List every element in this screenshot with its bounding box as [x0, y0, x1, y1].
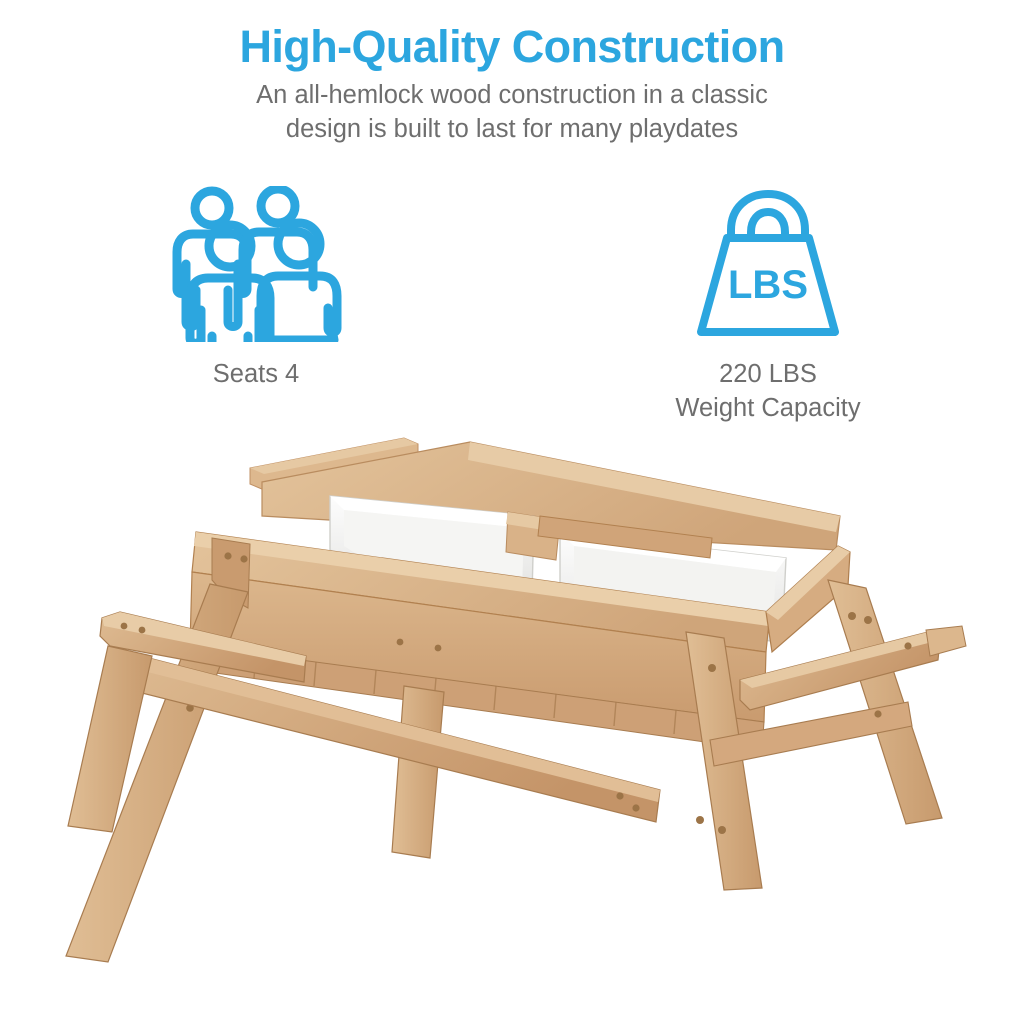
feature-weight-capacity: LBS 220 LBS Weight Capacity	[512, 186, 1024, 426]
weight-bag-icon-wrap: LBS	[512, 186, 1024, 342]
screw	[718, 826, 726, 834]
screw	[632, 804, 639, 811]
screw	[874, 710, 881, 717]
screw	[696, 816, 704, 824]
subtitle-line-1: An all-hemlock wood construction in a cl…	[147, 79, 877, 113]
screw	[397, 639, 404, 646]
seats-caption: Seats 4	[0, 358, 512, 392]
weight-bag-icon-label: LBS	[728, 263, 808, 307]
picnic-table-illustration	[0, 420, 1024, 1024]
screw	[848, 612, 856, 620]
feature-row: Seats 4 LBS 220 LBS	[0, 186, 1024, 426]
infographic-page: High-Quality Construction An all-hemlock…	[0, 0, 1024, 1024]
table-group	[66, 438, 966, 962]
subtitle-line-2: design is built to last for many playdat…	[147, 113, 877, 147]
product-photo	[0, 420, 1024, 1024]
page-title: High-Quality Construction	[0, 22, 1024, 72]
bench-right-far-tab	[926, 626, 966, 656]
screw	[435, 645, 442, 652]
screw	[864, 616, 872, 624]
screw	[240, 555, 247, 562]
weight-caption-line-1: 220 LBS	[512, 358, 1024, 392]
screw	[224, 552, 231, 559]
header: High-Quality Construction An all-hemlock…	[0, 22, 1024, 147]
screw	[904, 642, 911, 649]
seats-caption-line-1: Seats 4	[0, 358, 512, 392]
leg-left-rear	[392, 686, 444, 858]
screw	[616, 792, 623, 799]
page-subtitle: An all-hemlock wood construction in a cl…	[147, 79, 877, 146]
four-people-icon-wrap	[0, 186, 512, 342]
weight-capacity-caption: 220 LBS Weight Capacity	[512, 358, 1024, 426]
screw	[139, 627, 146, 634]
four-people-icon	[168, 186, 344, 342]
screw	[121, 623, 128, 630]
feature-seats: Seats 4	[0, 186, 512, 426]
screw	[708, 664, 716, 672]
weight-bag-icon: LBS	[685, 186, 851, 342]
